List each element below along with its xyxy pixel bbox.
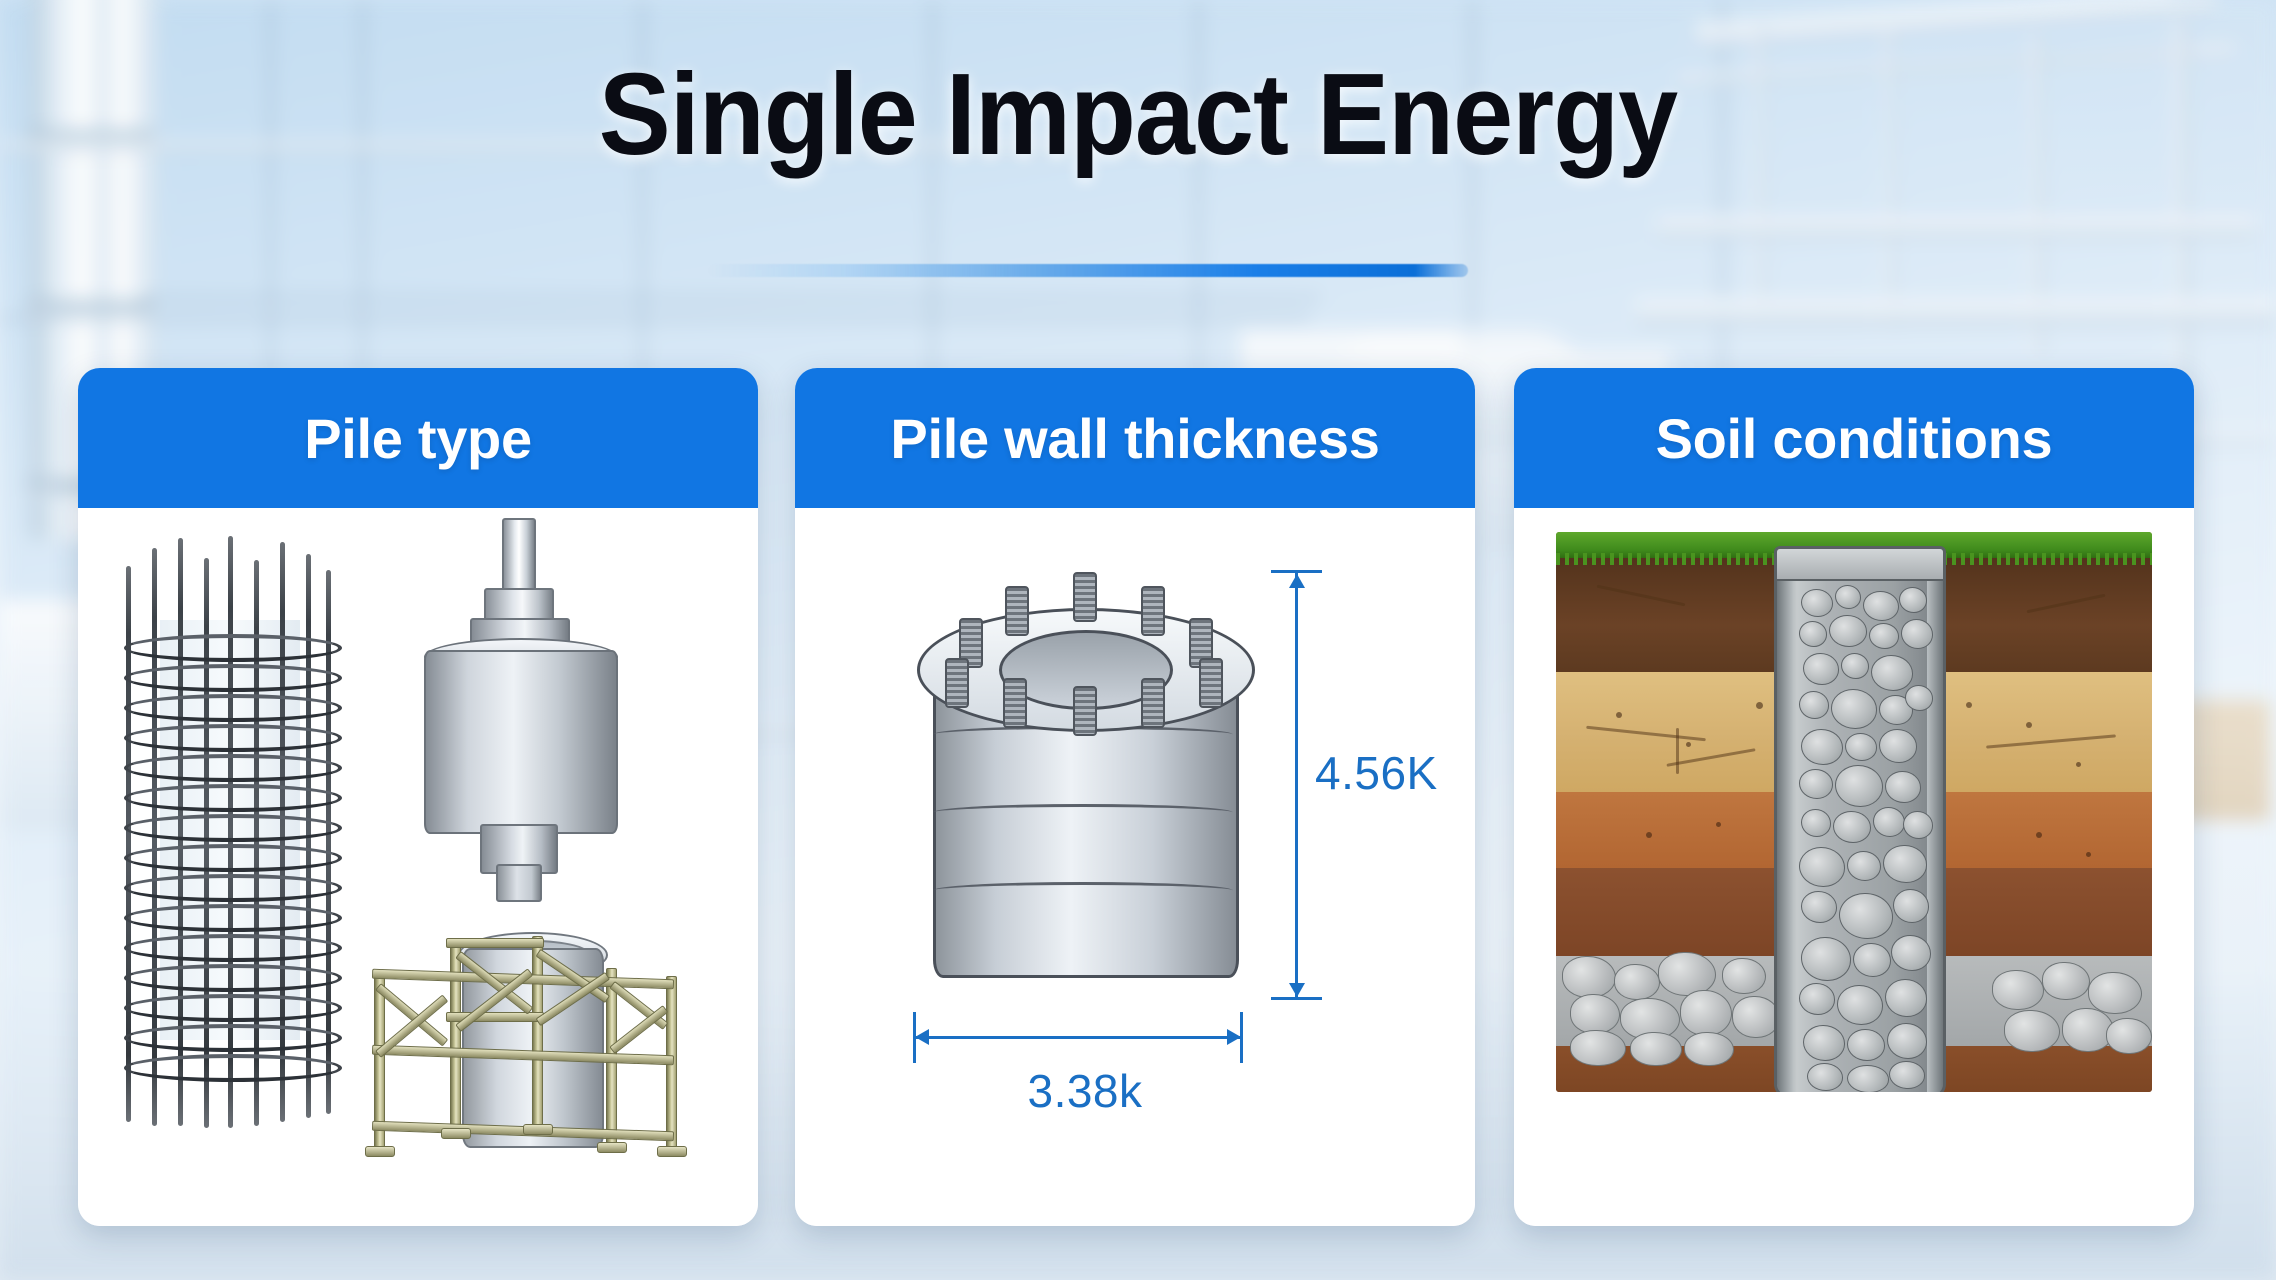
pile-segment-icon	[907, 566, 1257, 1016]
flange-bolt-icon	[1141, 586, 1165, 636]
arrow-right-icon	[1227, 1029, 1241, 1045]
pile-wall-left	[1777, 549, 1793, 1092]
arrow-left-icon	[915, 1029, 929, 1045]
flange-bolt-icon	[1003, 678, 1027, 728]
flange-bolt-icon	[1141, 678, 1165, 728]
height-dimension-tick	[1271, 997, 1322, 1000]
slide-canvas: Single Impact Energy Pile type	[0, 0, 2276, 1280]
card-title-soil-conditions: Soil conditions	[1656, 406, 2053, 471]
card-title-pile-type: Pile type	[304, 406, 532, 471]
card-title-pile-wall-thickness: Pile wall thickness	[890, 406, 1379, 471]
card-header-pile-type: Pile type	[78, 368, 758, 508]
flange-bolt-icon	[1199, 658, 1223, 708]
card-header-pile-wall-thickness: Pile wall thickness	[795, 368, 1475, 508]
arrow-down-icon	[1289, 983, 1305, 997]
card-body-soil-conditions	[1514, 508, 2194, 1226]
card-pile-type[interactable]: Pile type	[78, 368, 758, 1226]
height-dimension-tick	[1271, 570, 1322, 573]
flange-bolt-icon	[1073, 572, 1097, 622]
height-dimension-label: 4.56K	[1315, 746, 1438, 800]
card-body-pile-wall-thickness: 4.56K 3.38k	[795, 508, 1475, 1226]
pile-cap	[1777, 549, 1943, 581]
card-pile-wall-thickness[interactable]: Pile wall thickness	[795, 368, 1475, 1226]
card-header-soil-conditions: Soil conditions	[1514, 368, 2194, 508]
arrow-up-icon	[1289, 574, 1305, 588]
card-soil-conditions[interactable]: Soil conditions	[1514, 368, 2194, 1226]
width-dimension-line	[913, 1036, 1243, 1039]
card-body-pile-type	[78, 508, 758, 1226]
scaffold-pile-icon	[366, 900, 682, 1200]
flange-bolt-icon	[1073, 686, 1097, 736]
width-dimension-label: 3.38k	[795, 1064, 1375, 1118]
flange-bolt-icon	[945, 658, 969, 708]
flange-bolt-icon	[1005, 586, 1029, 636]
rebar-cage-icon	[114, 530, 344, 1130]
pile-hammer-icon	[398, 518, 638, 848]
height-dimension-line	[1295, 570, 1298, 1000]
soil-cross-section-icon	[1556, 532, 2152, 1092]
bored-pile-column	[1774, 546, 1946, 1092]
card-row: Pile type	[0, 0, 2276, 1280]
